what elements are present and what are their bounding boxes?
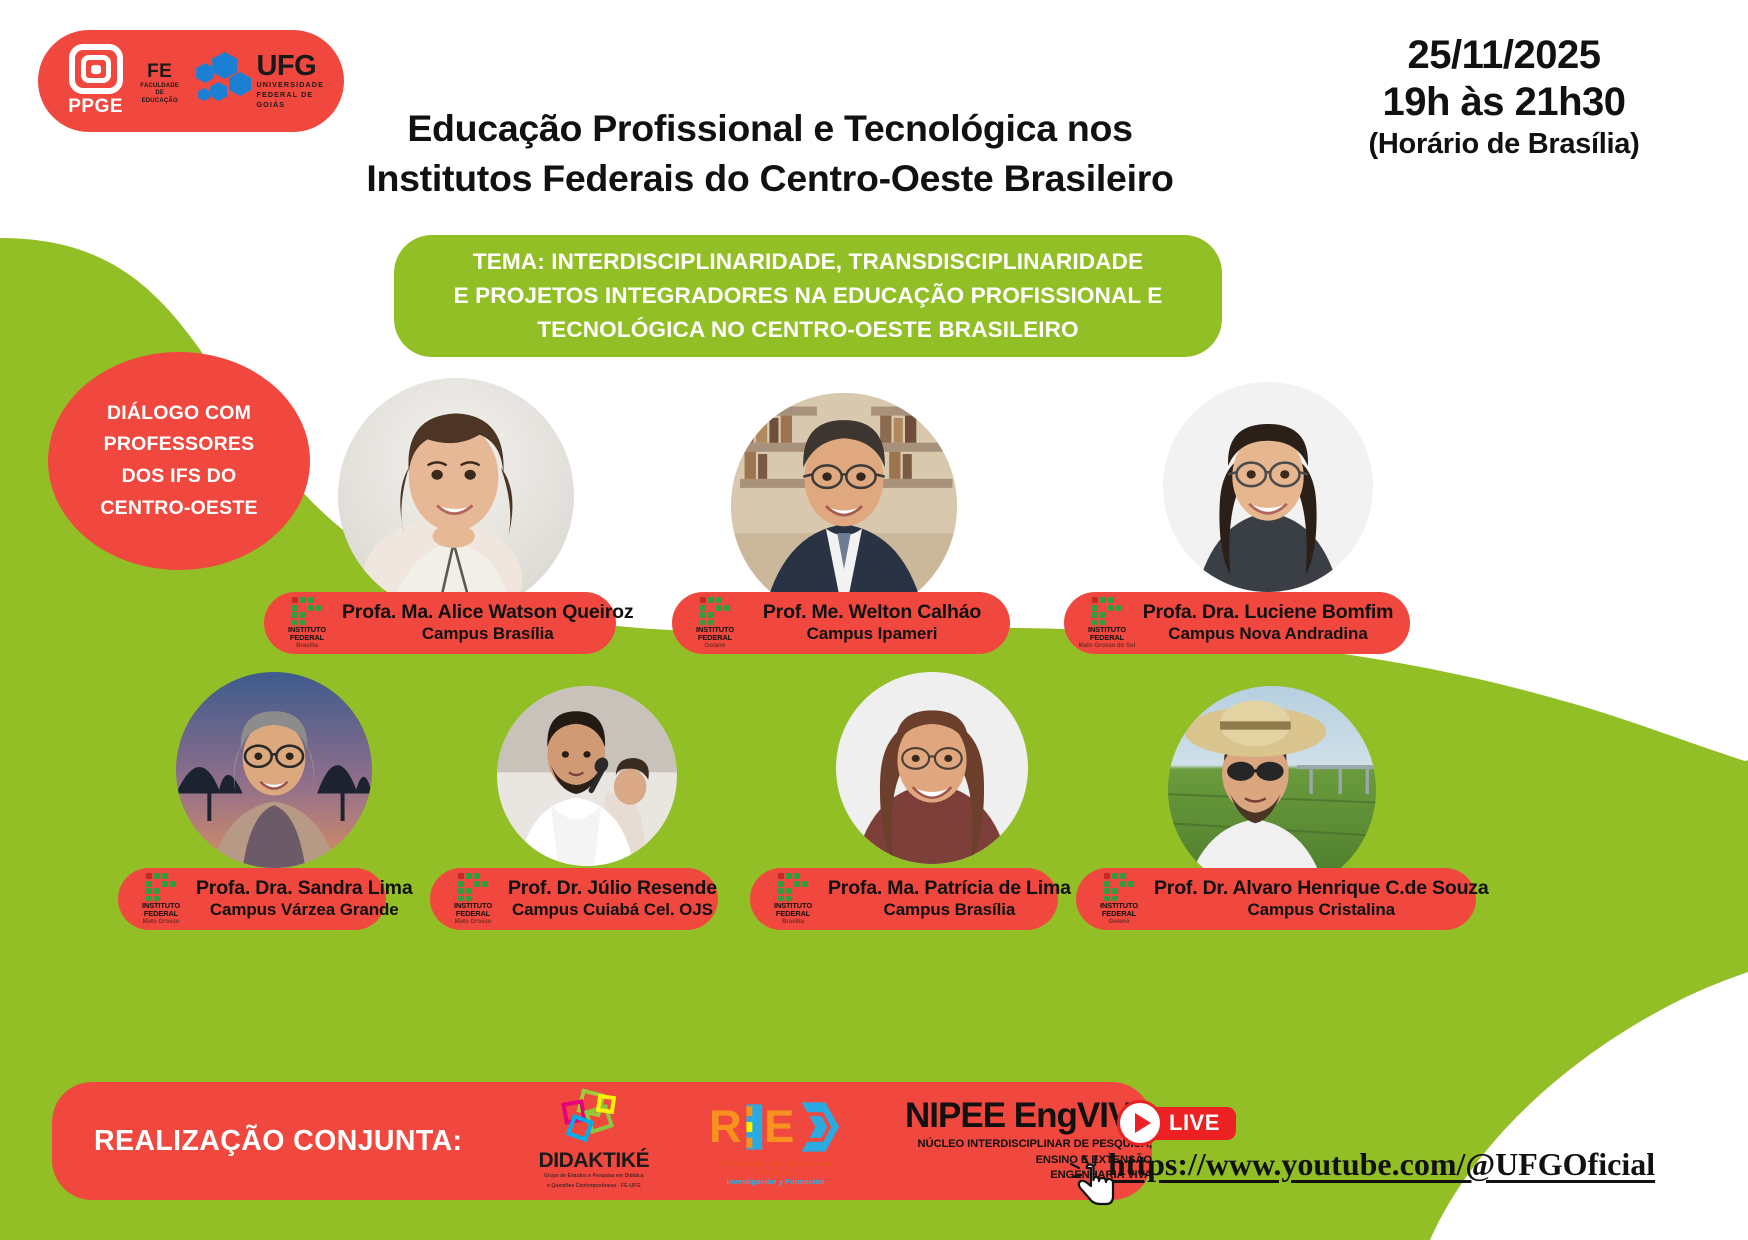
speaker-photo-luciene-bomfim — [1163, 382, 1373, 592]
if-state-label: Goiano — [705, 643, 726, 649]
if-state-label: Mato Grosso — [143, 919, 180, 925]
live-badge: LIVE — [1117, 1100, 1236, 1146]
speaker-name: Prof. Me. Welton Calháo — [750, 601, 994, 623]
if-word-federal: FEDERAL — [142, 910, 180, 918]
speaker-pill-3: INSTITUTO FEDERAL Mato Grosso do Sul Pro… — [1064, 592, 1410, 654]
fe-logo: FE FACULDADE DE EDUCAÇÃO — [135, 61, 184, 106]
ufg-label: UFG — [256, 53, 344, 81]
speaker-campus: Campus Ipameri — [750, 623, 994, 645]
instituto-federal-logo-icon: INSTITUTO FEDERAL Goiano — [1088, 873, 1150, 924]
fe-label: FE — [147, 61, 172, 83]
fe-sub-line2: EDUCAÇÃO — [142, 98, 178, 106]
event-datetime: 25/11/2025 19h às 21h30 (Horário de Bras… — [1294, 32, 1714, 163]
if-word-federal: FEDERAL — [696, 634, 734, 642]
if-word-federal: FEDERAL — [774, 910, 812, 918]
speaker-pill-1: INSTITUTO FEDERAL Brasília Profa. Ma. Al… — [264, 592, 616, 654]
if-word-federal: FEDERAL — [288, 634, 326, 642]
title-line-1: Educação Profissional e Tecnológica nos — [300, 104, 1240, 154]
youtube-channel-link[interactable]: https://www.youtube.com/@UFGOficial — [1108, 1146, 1655, 1183]
speaker-campus: Campus Cristalina — [1154, 899, 1488, 921]
speaker-photo-patricia-de-lima — [836, 672, 1028, 864]
didaktike-logo: DIDAKTIKÉ Grupo de Estudos e Pesquisa em… — [514, 1091, 673, 1190]
if-state-label: Goiano — [1109, 919, 1130, 925]
if-state-label: Brasília — [296, 643, 318, 649]
ppge-logo-icon: PPGE — [64, 44, 127, 118]
if-state-label: Mato Grosso do Sul — [1079, 643, 1136, 649]
riec-sub-2: Investigación y Formación — [726, 1177, 824, 1186]
speaker-campus: Campus Cuiabá Cel. OJS — [508, 899, 717, 921]
ufg-logo: UFG UNIVERSIDADE FEDERAL DE GOIÁS — [196, 52, 344, 110]
poster-title: Educação Profissional e Tecnológica nos … — [300, 104, 1240, 204]
ppge-ufg-logo-pill: PPGE FE FACULDADE DE EDUCAÇÃO UFG UNIVER… — [38, 30, 344, 132]
didaktike-sub-1: Grupo de Estudos e Pesquisa em Didática — [544, 1173, 644, 1181]
dialog-line-3: DOS IFS DO — [100, 461, 257, 493]
riec-mark-icon: R E — [707, 1096, 845, 1158]
dialog-badge: DIÁLOGO COM PROFESSORES DOS IFS DO CENTR… — [48, 352, 310, 570]
dialog-line-2: PROFESSORES — [100, 429, 257, 461]
didaktike-squares-icon — [557, 1091, 631, 1149]
speaker-name: Profa. Ma. Alice Watson Queiroz — [342, 601, 633, 623]
speaker-pill-5: INSTITUTO FEDERAL Mato Grosso Prof. Dr. … — [430, 868, 718, 930]
if-word-federal: FEDERAL — [454, 910, 492, 918]
if-word-federal: FEDERAL — [1100, 910, 1138, 918]
speaker-pill-7: INSTITUTO FEDERAL Goiano Prof. Dr. Alvar… — [1076, 868, 1476, 930]
if-word-federal: FEDERAL — [1088, 634, 1126, 642]
instituto-federal-logo-icon: INSTITUTO FEDERAL Goiano — [684, 597, 746, 648]
speaker-name: Profa. Dra. Luciene Bomfim — [1142, 601, 1394, 623]
if-state-label: Mato Grosso — [455, 919, 492, 925]
youtube-play-icon — [1117, 1100, 1163, 1146]
speaker-photo-alice-watson-queiroz — [338, 378, 574, 614]
instituto-federal-logo-icon: INSTITUTO FEDERAL Mato Grosso — [130, 873, 192, 924]
speaker-campus: Campus Nova Andradina — [1142, 623, 1394, 645]
dialog-line-1: DIÁLOGO COM — [100, 398, 257, 430]
didaktike-sub-2: e Questões Contemporâneas - FE-UFG — [547, 1183, 641, 1191]
speaker-name: Prof. Dr. Alvaro Henrique C.de Souza — [1154, 877, 1488, 899]
footer-bar: REALIZAÇÃO CONJUNTA: DIDAKTIKÉ Grupo de … — [52, 1082, 1152, 1200]
riec-sub-1: Red Internacional de Escuelas Creativas — [701, 1159, 850, 1177]
speaker-name: Prof. Dr. Júlio Resende — [508, 877, 717, 899]
theme-line-2: E PROJETOS INTEGRADORES NA EDUCAÇÃO PROF… — [454, 279, 1163, 313]
theme-line-3: TECNOLÓGICA NO CENTRO-OESTE BRASILEIRO — [454, 313, 1163, 347]
event-date: 25/11/2025 — [1294, 32, 1714, 79]
pointer-hand-icon — [1068, 1152, 1120, 1208]
instituto-federal-logo-icon: INSTITUTO FEDERAL Mato Grosso — [442, 873, 504, 924]
speaker-photo-welton-calhao — [731, 393, 957, 619]
speaker-campus: Campus Várzea Grande — [196, 899, 412, 921]
instituto-federal-logo-icon: INSTITUTO FEDERAL Mato Grosso do Sul — [1076, 597, 1138, 648]
title-line-2: Institutos Federais do Centro-Oeste Bras… — [300, 154, 1240, 204]
ppge-label: PPGE — [68, 96, 123, 118]
theme-banner: TEMA: INTERDISCIPLINARIDADE, TRANSDISCIP… — [394, 235, 1222, 357]
speaker-photo-julio-resende — [497, 686, 677, 866]
svg-text:E: E — [764, 1101, 794, 1152]
dialog-line-4: CENTRO-OESTE — [100, 493, 257, 525]
instituto-federal-logo-icon: INSTITUTO FEDERAL Brasília — [276, 597, 338, 648]
ufg-sub-line1: UNIVERSIDADE — [256, 80, 344, 90]
ufg-hexagon-icon — [196, 52, 251, 110]
didaktike-name: DIDAKTIKÉ — [538, 1150, 649, 1171]
speaker-name: Profa. Dra. Sandra Lima — [196, 877, 412, 899]
speaker-photo-sandra-lima — [176, 672, 372, 868]
theme-line-1: TEMA: INTERDISCIPLINARIDADE, TRANSDISCIP… — [454, 245, 1163, 279]
fe-sub-line1: FACULDADE DE — [135, 83, 184, 98]
speaker-pill-4: INSTITUTO FEDERAL Mato Grosso Profa. Dra… — [118, 868, 386, 930]
speaker-photo-alvaro-henrique — [1168, 686, 1376, 894]
speaker-campus: Campus Brasília — [342, 623, 633, 645]
speaker-campus: Campus Brasília — [828, 899, 1071, 921]
realizacao-label: REALIZAÇÃO CONJUNTA: — [94, 1125, 462, 1158]
riec-logo: R E Red Internacional de Escuelas Creati… — [701, 1096, 850, 1186]
speaker-pill-2: INSTITUTO FEDERAL Goiano Prof. Me. Welto… — [672, 592, 1010, 654]
event-timezone: (Horário de Brasília) — [1294, 126, 1714, 162]
event-time: 19h às 21h30 — [1294, 79, 1714, 126]
nipee-title: NIPEE EngVIVA — [905, 1098, 1152, 1133]
svg-text:R: R — [709, 1101, 742, 1152]
event-poster: PPGE FE FACULDADE DE EDUCAÇÃO UFG UNIVER… — [0, 0, 1748, 1240]
if-state-label: Brasília — [782, 919, 804, 925]
instituto-federal-logo-icon: INSTITUTO FEDERAL Brasília — [762, 873, 824, 924]
speaker-pill-6: INSTITUTO FEDERAL Brasília Profa. Ma. Pa… — [750, 868, 1058, 930]
speaker-name: Profa. Ma. Patrícia de Lima — [828, 877, 1071, 899]
